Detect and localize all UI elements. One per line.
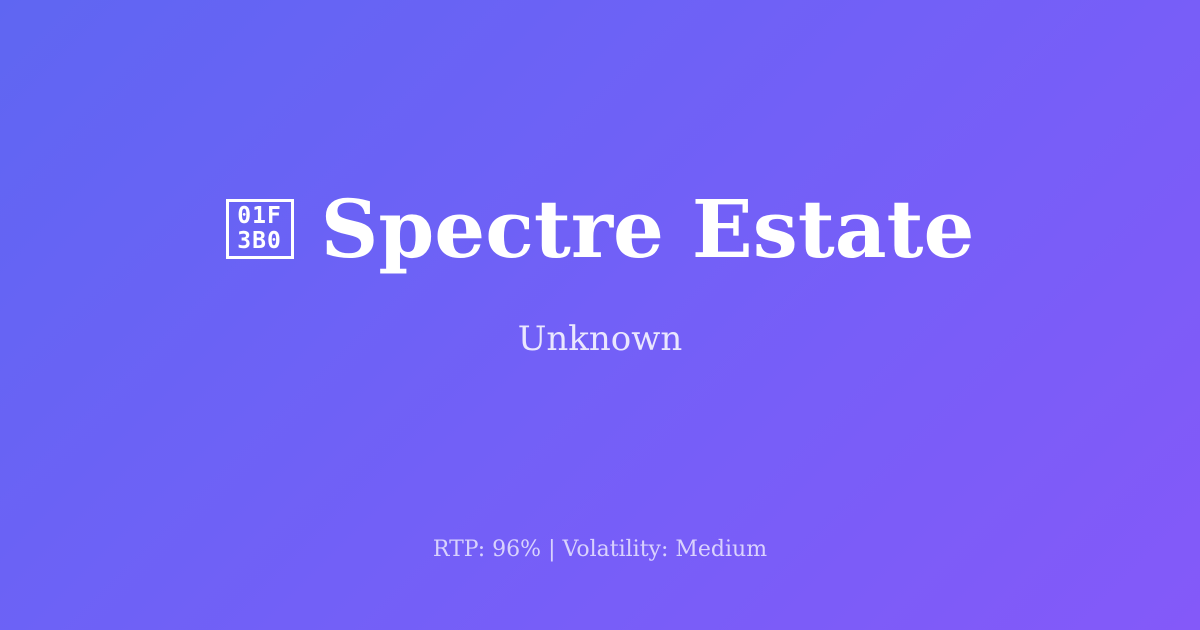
tofu-codepoint-top: 01F: [237, 204, 282, 229]
page-subtitle: Unknown: [518, 322, 683, 356]
slot-machine-icon: 01F 3B0: [226, 199, 294, 259]
footer-meta: RTP: 96% | Volatility: Medium: [0, 539, 1200, 561]
og-card: 01F 3B0 Spectre Estate Unknown RTP: 96% …: [0, 0, 1200, 630]
hero-block: 01F 3B0 Spectre Estate Unknown: [0, 0, 1200, 587]
page-title: Spectre Estate: [321, 189, 975, 269]
title-row: 01F 3B0 Spectre Estate: [226, 189, 975, 269]
tofu-codepoint-bottom: 3B0: [237, 229, 282, 254]
